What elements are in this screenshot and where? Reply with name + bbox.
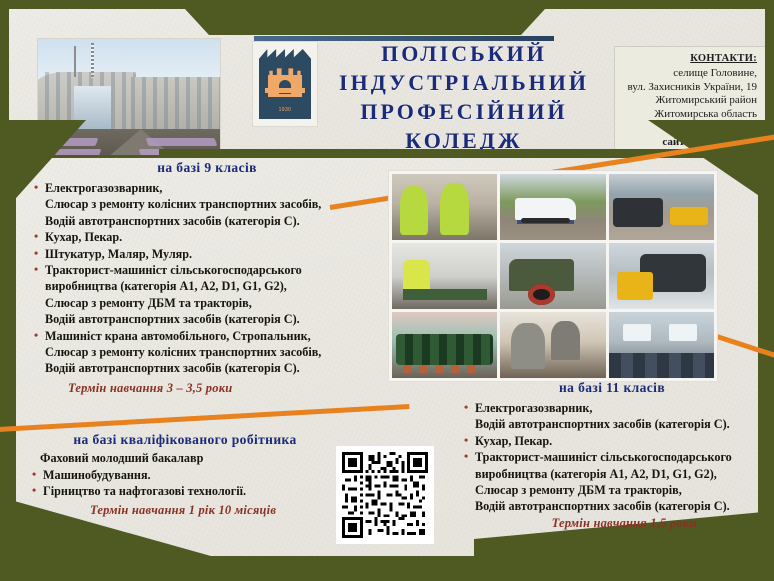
qr-code[interactable] <box>336 446 434 544</box>
program-line: Водій автотранспортних засобів (категорі… <box>45 213 382 229</box>
program-line: виробництва (категорія А1, А2, D1, G1, G… <box>475 466 762 482</box>
program-line: Кухар, Пекар. <box>475 433 762 449</box>
gallery-photo-tractor <box>500 243 605 309</box>
qr-code-icon <box>342 452 428 538</box>
list-item: Тракторист-машиніст сільськогосподарсько… <box>462 449 762 515</box>
section-base-11-classes: на базі 11 класів Електрогазозварник, Во… <box>462 380 762 531</box>
program-line: Водій автотранспортних засобів (категорі… <box>475 498 762 514</box>
title-line-1: ПОЛІСЬКИЙ <box>325 39 603 68</box>
contacts-line-1: селище Головине, <box>621 67 757 81</box>
program-line: Машинобудування. <box>43 467 340 483</box>
gallery-photo-classroom <box>609 312 714 378</box>
list-item: Машиніст крана автомобільного, Стропальн… <box>32 328 382 377</box>
program-line: Машиніст крана автомобільного, Стропальн… <box>45 328 382 344</box>
section-base-9-classes: на базі 9 класів Електрогазозварник, Слю… <box>32 160 382 396</box>
title-line-2: ІНДУСТРІАЛЬНИЙ <box>325 68 603 97</box>
contacts-line-3: Житомирський район <box>621 94 757 108</box>
gallery-photo-excavator-yard <box>609 174 714 240</box>
photo-gallery <box>388 170 718 382</box>
program-list-qualified: Машинобудування. Гірництво та нафтогазов… <box>30 467 340 500</box>
factory-castle-icon: 1930 <box>259 49 311 119</box>
program-line: Електрогазозварник, <box>45 180 382 196</box>
page-title: ПОЛІСЬКИЙ ІНДУСТРІАЛЬНИЙ ПРОФЕСІЙНИЙ КОЛ… <box>325 39 603 155</box>
list-item: Кухар, Пекар. <box>462 433 762 449</box>
study-term-base-11: Термін навчання 1,5 роки <box>486 516 762 531</box>
list-item: Тракторист-машиніст сільськогосподарсько… <box>32 262 382 328</box>
program-line: Тракторист-машиніст сільськогосподарсько… <box>45 262 382 278</box>
logo-year-label: 1930 <box>259 107 311 113</box>
section-heading-base-11: на базі 11 класів <box>462 380 762 396</box>
gallery-photo-welding <box>392 174 497 240</box>
program-line: Слюсар з ремонту ДБМ та тракторів, <box>45 295 382 311</box>
section-heading-qualified: на базі кваліфікованого робітника <box>30 432 340 448</box>
program-line: виробництва (категорія А1, А2, D1, G1, G… <box>45 278 382 294</box>
gallery-photo-truck <box>500 174 605 240</box>
title-line-4: КОЛЕДЖ <box>325 126 603 155</box>
program-line: Водій автотранспортних засобів (категорі… <box>45 360 382 376</box>
program-line: Гірництво та нафтогазові технології. <box>43 483 340 499</box>
contacts-line-2: вул. Захисників України, 19 <box>621 81 757 95</box>
header-band: 1930 ПОЛІСЬКИЙ ІНДУСТРІАЛЬНИЙ ПРОФЕСІЙНИ… <box>9 9 765 155</box>
gallery-photo-excavator-winter <box>609 243 714 309</box>
program-line: Водій автотранспортних засобів (категорі… <box>45 311 382 327</box>
gallery-photo-students <box>392 312 497 378</box>
gallery-photo-bakery <box>500 312 605 378</box>
title-line-3: ПРОФЕСІЙНИЙ <box>325 97 603 126</box>
list-item: Гірництво та нафтогазові технології. <box>30 483 340 499</box>
program-line: Слюсар з ремонту ДБМ та тракторів, <box>475 482 762 498</box>
gallery-photo-workbench <box>392 243 497 309</box>
program-line: Слюсар з ремонту колісних транспортних з… <box>45 196 382 212</box>
contacts-line-4: Житомирська область <box>621 108 757 122</box>
contacts-title: КОНТАКТИ: <box>621 52 757 66</box>
list-item: Машинобудування. <box>30 467 340 483</box>
list-item: Електрогазозварник, Слюсар з ремонту кол… <box>32 180 382 229</box>
list-item: Кухар, Пекар. <box>32 229 382 245</box>
program-line: Штукатур, Маляр, Муляр. <box>45 246 382 262</box>
degree-label: Фаховий молодший бакалавр <box>40 451 340 466</box>
program-line: Кухар, Пекар. <box>45 229 382 245</box>
program-line: Електрогазозварник, <box>475 400 762 416</box>
section-qualified-worker: на базі кваліфікованого робітника Фахови… <box>30 432 340 518</box>
list-item: Електрогазозварник, Водій автотранспортн… <box>462 400 762 433</box>
program-line: Слюсар з ремонту колісних транспортних з… <box>45 344 382 360</box>
section-heading-base-9: на базі 9 класів <box>32 160 382 176</box>
study-term-qualified: Термін навчання 1 рік 10 місяців <box>90 503 340 518</box>
college-logo: 1930 <box>252 41 318 127</box>
list-item: Штукатур, Маляр, Муляр. <box>32 246 382 262</box>
program-list-base-11: Електрогазозварник, Водій автотранспортн… <box>462 400 762 515</box>
study-term-base-9: Термін навчання 3 – 3,5 роки <box>68 381 382 396</box>
poster-root: 1930 ПОЛІСЬКИЙ ІНДУСТРІАЛЬНИЙ ПРОФЕСІЙНИ… <box>0 0 774 581</box>
program-list-base-9: Електрогазозварник, Слюсар з ремонту кол… <box>32 180 382 377</box>
program-line: Тракторист-машиніст сільськогосподарсько… <box>475 449 762 465</box>
program-line: Водій автотранспортних засобів (категорі… <box>475 416 762 432</box>
